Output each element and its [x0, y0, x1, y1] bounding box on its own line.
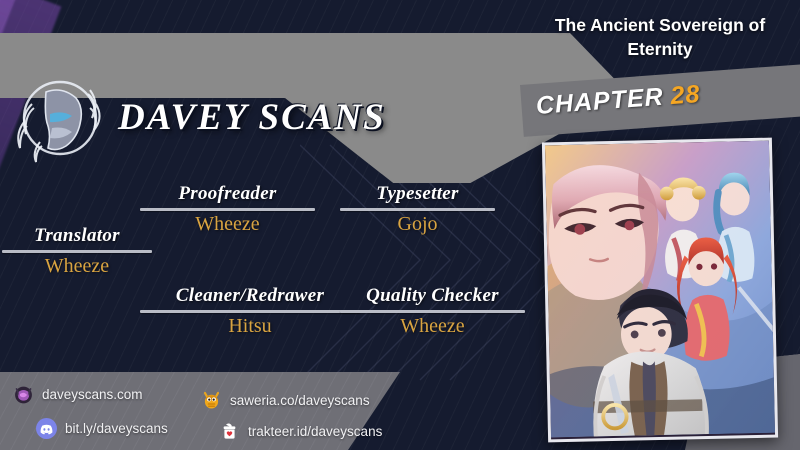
- credit-page: DAVEY SCANS The Ancient Sovereign of Ete…: [0, 0, 800, 450]
- credit-role: Quality Checker: [340, 285, 525, 307]
- credit-divider: [340, 208, 495, 211]
- brand-name: DAVEY SCANS: [118, 96, 386, 139]
- credit-quality-checker: Quality Checker Wheeze: [340, 285, 525, 338]
- credit-person: Wheeze: [2, 255, 152, 278]
- link-trakteer[interactable]: trakteer.id/daveyscans: [218, 420, 382, 443]
- davey-scans-site-icon: [12, 383, 35, 406]
- credit-divider: [140, 208, 315, 211]
- chapter-number: 28: [669, 80, 701, 110]
- trakteer-icon: [218, 420, 241, 443]
- link-discord[interactable]: bit.ly/daveyscans: [35, 417, 168, 440]
- credit-person: Hitsu: [140, 315, 360, 338]
- saweria-icon: [200, 389, 223, 412]
- series-title: The Ancient Sovereign of Eternity: [520, 14, 800, 61]
- credit-person: Gojo: [340, 213, 495, 236]
- link-label: trakteer.id/daveyscans: [248, 424, 382, 439]
- discord-icon: [35, 417, 58, 440]
- davey-scans-helmet-logo: [10, 70, 115, 170]
- credit-typesetter: Typesetter Gojo: [340, 183, 495, 236]
- credit-role: Translator: [2, 225, 152, 247]
- credit-role: Proofreader: [140, 183, 315, 205]
- credit-divider: [2, 250, 152, 253]
- credit-divider: [140, 310, 360, 313]
- credit-translator: Translator Wheeze: [2, 225, 152, 278]
- credit-divider: [340, 310, 525, 313]
- credit-person: Wheeze: [140, 213, 315, 236]
- link-website[interactable]: daveyscans.com: [12, 383, 143, 406]
- link-label: saweria.co/daveyscans: [230, 393, 370, 408]
- link-saweria[interactable]: saweria.co/daveyscans: [200, 389, 370, 412]
- credit-cleaner-redrawer: Cleaner/Redrawer Hitsu: [140, 285, 360, 338]
- link-label: daveyscans.com: [42, 387, 143, 402]
- credit-role: Typesetter: [340, 183, 495, 205]
- credit-proofreader: Proofreader Wheeze: [140, 183, 315, 236]
- manhua-cover-artwork: [542, 138, 778, 443]
- credit-role: Cleaner/Redrawer: [140, 285, 360, 307]
- link-label: bit.ly/daveyscans: [65, 421, 168, 436]
- credit-person: Wheeze: [340, 315, 525, 338]
